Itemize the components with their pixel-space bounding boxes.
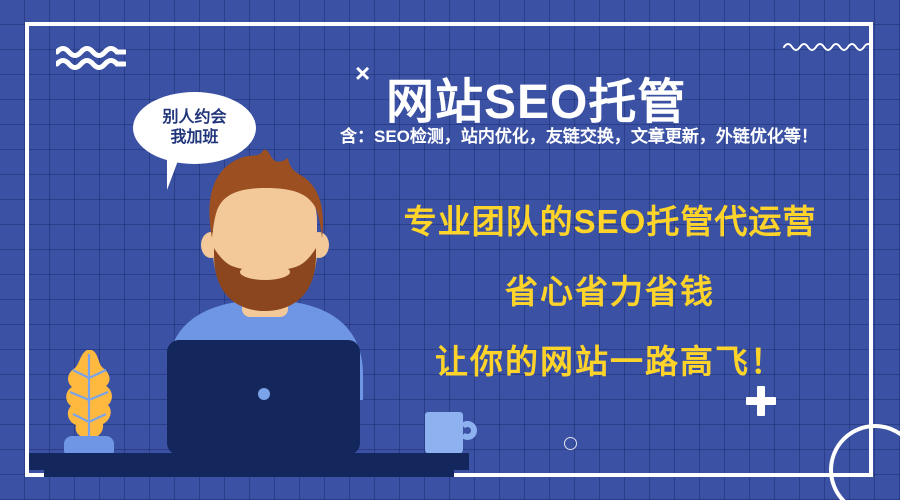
plant-illustration: [58, 348, 120, 458]
speech-bubble: 别人约会 我加班: [133, 92, 256, 164]
speech-bubble-line-1: 别人约会: [162, 108, 226, 128]
desk-surface: [29, 453, 469, 470]
mug-body-shape: [425, 412, 463, 455]
speech-bubble-text: 别人约会 我加班: [133, 92, 256, 164]
laptop-indicator-dot: [258, 388, 270, 400]
mouth-shape: [240, 264, 290, 280]
seo-banner: × 网站SEO托管 含：SEO检测，站内优化，友链交换，文章更新，外链优化等！ …: [0, 0, 900, 500]
desk-edge: [44, 470, 454, 477]
speech-bubble-line-2: 我加班: [170, 128, 218, 148]
